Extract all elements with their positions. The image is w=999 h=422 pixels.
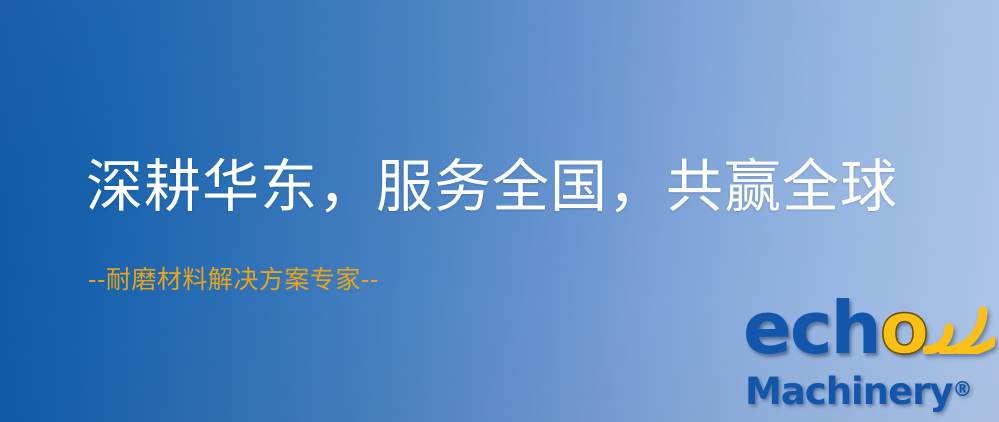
logo-tagline: Machinery® — [745, 370, 973, 411]
registered-trademark-icon: ® — [953, 377, 973, 401]
logo-wordmark: echo — [743, 292, 927, 364]
logo-wordmark-prefix: ech — [743, 286, 880, 370]
logo-tagline-text: Machinery — [745, 370, 953, 413]
banner-subtitle: --耐磨材料解决方案专家-- — [88, 264, 379, 296]
banner-headline: 深耕华东，服务全国，共赢全球 — [86, 155, 898, 219]
company-logo[interactable]: echo Machinery® — [737, 290, 999, 422]
echo-wave-arcs-icon — [923, 290, 995, 354]
promo-banner: 深耕华东，服务全国，共赢全球 --耐磨材料解决方案专家-- echo Machi… — [0, 0, 999, 422]
logo-wordmark-o: o — [880, 286, 927, 370]
